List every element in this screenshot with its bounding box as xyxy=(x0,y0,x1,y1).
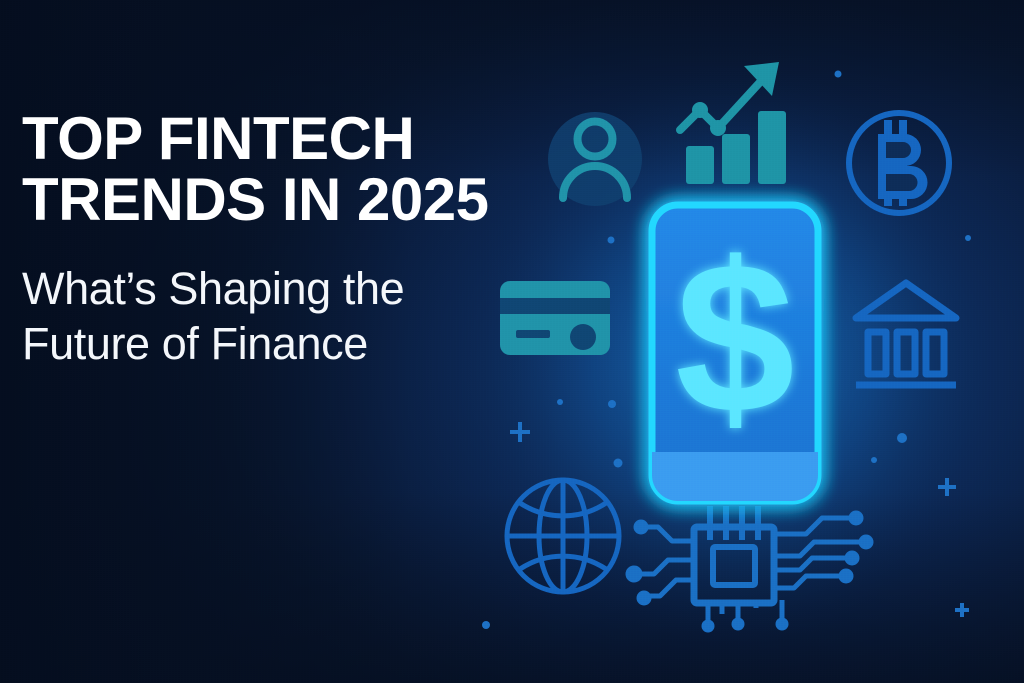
poster-text-block: TOP FINTECH TRENDS IN 2025 What’s Shapin… xyxy=(22,108,582,372)
fintech-trends-poster: $ TOP FINTECH TRENDS IN 2025 What’s Shap… xyxy=(0,0,1024,683)
page-title: TOP FINTECH TRENDS IN 2025 xyxy=(22,108,582,230)
page-subtitle: What’s Shaping the Future of Finance xyxy=(22,230,582,372)
